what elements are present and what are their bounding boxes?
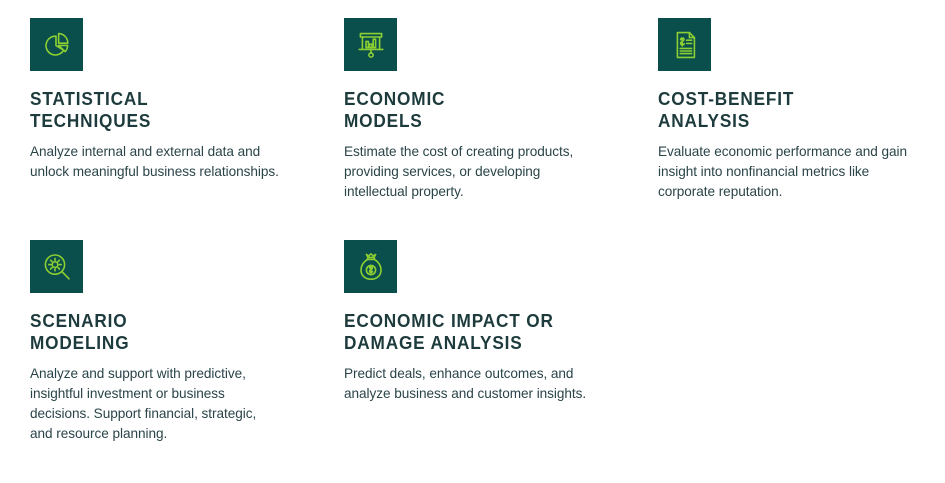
document-dollar-icon [669,29,701,61]
card-body: Estimate the cost of creating products, … [344,142,594,202]
card-title: SCENARIO MODELING [30,310,290,353]
feature-card-statistical-techniques: STATISTICAL TECHNIQUES Analyze internal … [30,18,344,240]
feature-card-economic-impact-damage-analysis: ECONOMIC IMPACT OR DAMAGE ANALYSIS Predi… [344,240,658,483]
money-bag-icon [355,251,387,283]
card-title: ECONOMIC IMPACT OR DAMAGE ANALYSIS [344,310,604,353]
card-body: Evaluate economic performance and gain i… [658,142,928,202]
card-title: ECONOMIC MODELS [344,88,604,131]
icon-tile [30,18,83,71]
card-title: COST-BENEFIT ANALYSIS [658,88,921,131]
icon-tile [344,18,397,71]
empty-grid-cell [658,240,945,483]
icon-tile [30,240,83,293]
card-body: Predict deals, enhance outcomes, and ana… [344,364,589,404]
card-title: STATISTICAL TECHNIQUES [30,88,290,131]
icon-tile [344,240,397,293]
feature-card-economic-models: ECONOMIC MODELS Estimate the cost of cre… [344,18,658,240]
icon-tile [658,18,711,71]
presentation-bar-chart-icon [355,29,387,61]
feature-card-cost-benefit-analysis: COST-BENEFIT ANALYSIS Evaluate economic … [658,18,945,240]
pie-chart-icon [41,29,73,61]
feature-card-scenario-modeling: SCENARIO MODELING Analyze and support wi… [30,240,344,483]
card-body: Analyze internal and external data and u… [30,142,280,182]
magnifier-gear-icon [41,251,73,283]
card-body: Analyze and support with predictive, ins… [30,364,280,444]
feature-grid: STATISTICAL TECHNIQUES Analyze internal … [0,0,945,465]
